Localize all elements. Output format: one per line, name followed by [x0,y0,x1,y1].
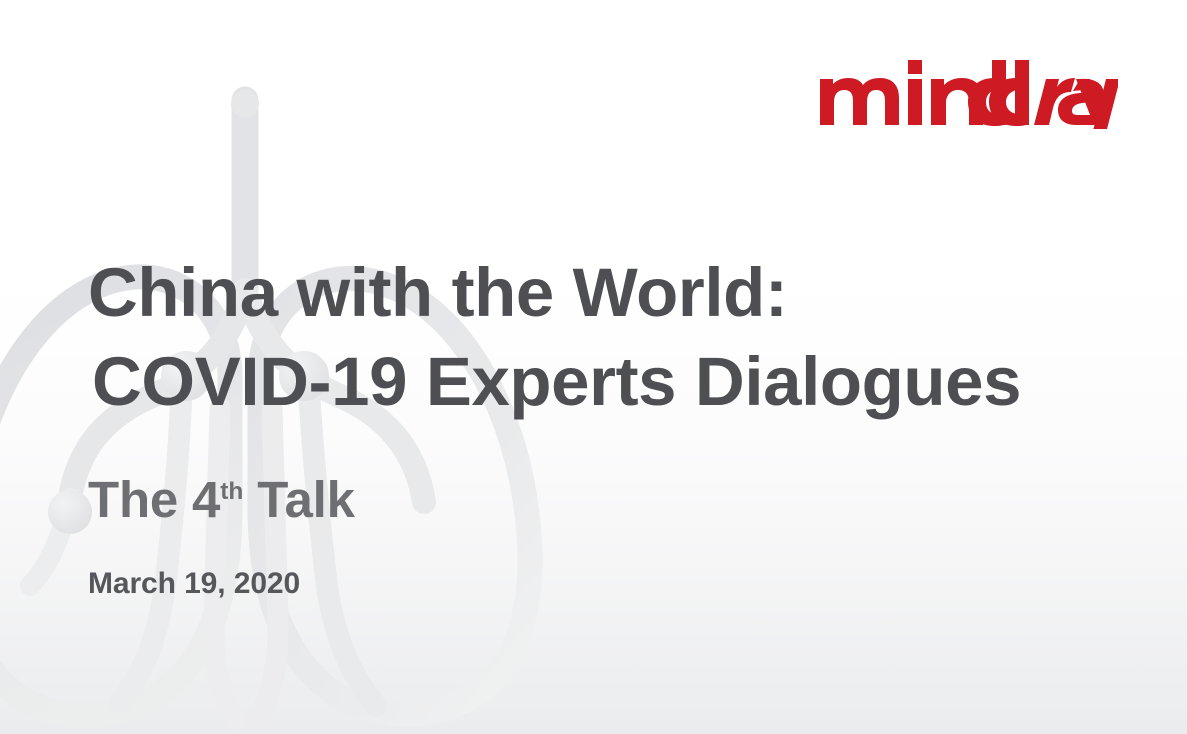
subtitle-prefix: The 4 [88,471,220,528]
page-title-line-2: COVID-19 Experts Dialogues [92,347,1021,416]
title-slide: China with the World: COVID-19 Experts D… [0,0,1187,734]
page-title-line-1: China with the World: [88,258,787,327]
talk-subtitle: The 4th Talk [88,474,355,525]
mindray-logo[interactable] [818,57,1118,129]
slide-date: March 19, 2020 [88,569,300,599]
subtitle-suffix: Talk [243,471,354,528]
subtitle-ordinal-suffix: th [220,478,243,505]
